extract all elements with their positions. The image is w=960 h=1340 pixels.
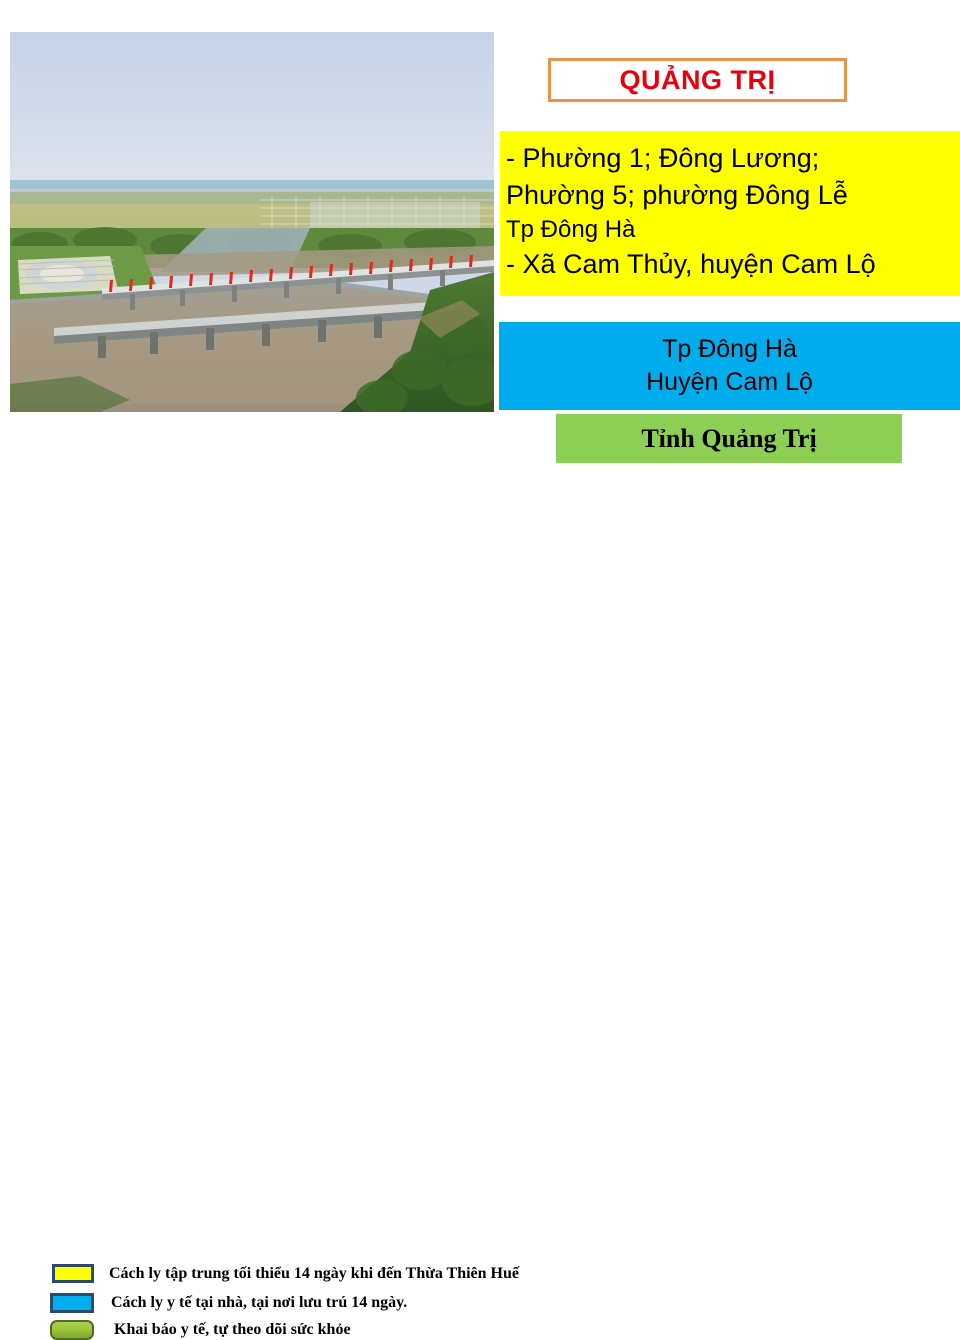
yellow-box-line-1: - Phường 1; Đông Lương; <box>506 140 960 177</box>
legend-item-label: Cách ly tập trung tối thiểu 14 ngày khi … <box>109 1266 519 1282</box>
legend: Cách ly tập trung tối thiểu 14 ngày khi … <box>0 630 960 720</box>
province-title-box: QUẢNG TRỊ <box>548 58 847 102</box>
legend-item: Cách ly tập trung tối thiểu 14 ngày khi … <box>52 1264 519 1283</box>
blue-box-line-1: Tp Đông Hà <box>662 333 797 366</box>
yellow-box-line-2: Phường 5; phường Đông Lễ <box>506 177 960 214</box>
blue-quarantine-zone-box: Tp Đông Hà Huyện Cam Lộ <box>499 322 960 410</box>
legend-item-label: Cách ly y tế tại nhà, tại nơi lưu trú 14… <box>111 1295 407 1311</box>
aerial-photo <box>10 32 494 412</box>
legend-item: Khai báo y tế, tự theo dõi sức khỏe <box>50 1320 351 1340</box>
blue-box-line-2: Huyện Cam Lộ <box>646 366 813 399</box>
aerial-photo-graphic <box>10 32 494 412</box>
province-title-text: QUẢNG TRỊ <box>620 67 776 94</box>
yellow-quarantine-zone-box: - Phường 1; Đông Lương; Phường 5; phường… <box>500 131 960 296</box>
legend-item-label: Khai báo y tế, tự theo dõi sức khỏe <box>114 1322 351 1338</box>
green-swatch-icon <box>50 1320 94 1340</box>
green-box-text: Tỉnh Quảng Trị <box>641 426 816 452</box>
yellow-box-line-3: Tp Đông Hà <box>506 214 960 246</box>
yellow-box-line-4: - Xã Cam Thủy, huyện Cam Lộ <box>506 246 960 283</box>
legend-item: Cách ly y tế tại nhà, tại nơi lưu trú 14… <box>50 1293 407 1313</box>
blue-swatch-icon <box>50 1293 94 1313</box>
green-province-box: Tỉnh Quảng Trị <box>556 414 902 463</box>
yellow-swatch-icon <box>52 1264 94 1283</box>
